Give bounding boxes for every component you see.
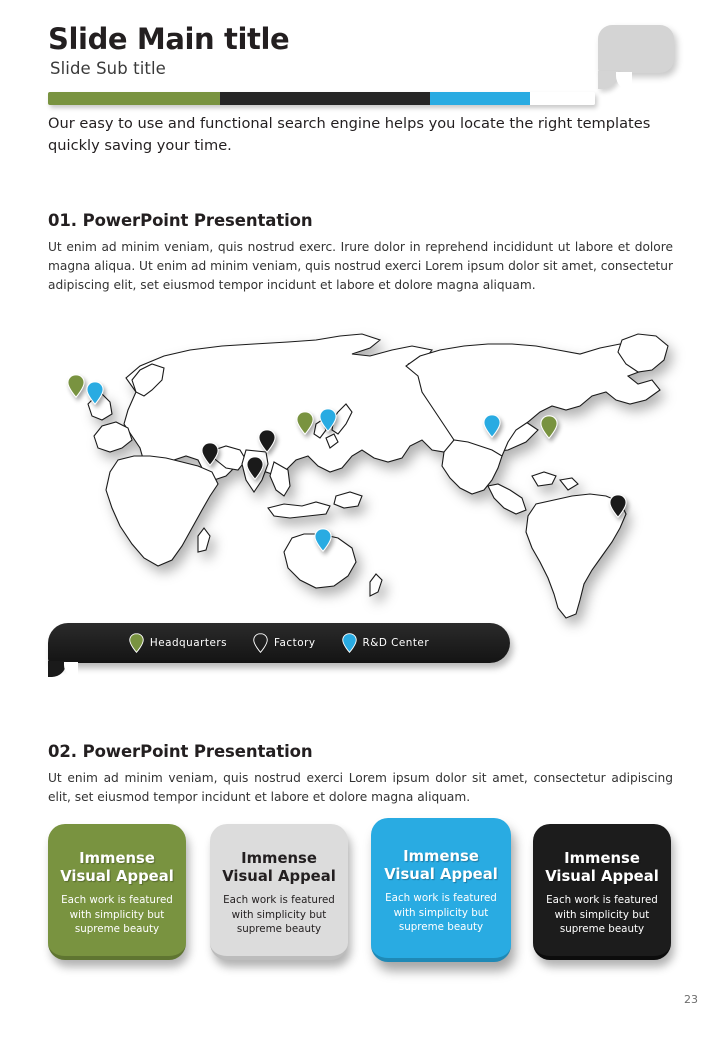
legend-item-headquarters[interactable]: Headquarters <box>129 633 227 653</box>
pin-brazil[interactable] <box>609 494 627 518</box>
feature-card-title-line1: Immense <box>545 850 659 868</box>
page-number: 23 <box>684 993 698 1006</box>
slide-canvas: Slide Main title Slide Sub title Our eas… <box>0 0 720 1040</box>
legend-item-label: Factory <box>274 637 315 649</box>
legend-item-factory[interactable]: Factory <box>253 633 315 653</box>
pin-sea[interactable] <box>246 456 264 480</box>
feature-card-title-line2: Visual Appeal <box>222 868 336 886</box>
map-pin-icon <box>253 633 268 653</box>
feature-card-title-line2: Visual Appeal <box>545 868 659 886</box>
pin-usa-west[interactable] <box>483 414 501 438</box>
colorbar-segment-dark <box>220 92 430 105</box>
speech-bubble-icon <box>598 25 674 73</box>
feature-card-description: Each work is featured with simplicity bu… <box>222 893 336 937</box>
map-legend: HeadquartersFactoryR&D Center <box>48 623 510 663</box>
world-map-svg <box>40 300 680 630</box>
feature-card-title-line2: Visual Appeal <box>60 868 174 886</box>
section-body-01: Ut enim ad minim veniam, quis nostrud ex… <box>48 238 673 295</box>
feature-card-title: ImmenseVisual Appeal <box>222 850 336 886</box>
feature-card[interactable]: ImmenseVisual AppealEach work is feature… <box>371 818 511 962</box>
feature-card[interactable]: ImmenseVisual AppealEach work is feature… <box>48 824 186 960</box>
pin-australia[interactable] <box>314 528 332 552</box>
intro-paragraph: Our easy to use and functional search en… <box>48 113 668 157</box>
feature-card-title: ImmenseVisual Appeal <box>60 850 174 886</box>
feature-card[interactable]: ImmenseVisual AppealEach work is feature… <box>533 824 671 960</box>
feature-card[interactable]: ImmenseVisual AppealEach work is feature… <box>210 824 348 960</box>
pin-uk[interactable] <box>67 374 85 398</box>
world-map <box>40 300 680 630</box>
colorbar-segment-green <box>48 92 220 105</box>
feature-card-description: Each work is featured with simplicity bu… <box>60 893 174 937</box>
map-pin-icon <box>342 633 357 653</box>
colorbar-segment-blue <box>430 92 530 105</box>
feature-card-title: ImmenseVisual Appeal <box>545 850 659 886</box>
legend-item-r-d-center[interactable]: R&D Center <box>342 633 430 653</box>
feature-card-title: ImmenseVisual Appeal <box>383 848 499 884</box>
title-block: Slide Main title Slide Sub title <box>48 24 289 79</box>
feature-card-title-line1: Immense <box>60 850 174 868</box>
page-title: Slide Main title <box>48 24 289 54</box>
pin-china[interactable] <box>258 429 276 453</box>
feature-card-title-line1: Immense <box>383 848 499 866</box>
pin-usa-east[interactable] <box>540 415 558 439</box>
section-heading-01: 01. PowerPoint Presentation <box>48 211 313 230</box>
page-subtitle: Slide Sub title <box>50 60 289 78</box>
feature-card-description: Each work is featured with simplicity bu… <box>383 891 499 935</box>
pin-japan[interactable] <box>319 408 337 432</box>
section-heading-02: 02. PowerPoint Presentation <box>48 742 313 761</box>
legend-item-label: Headquarters <box>150 637 227 649</box>
colorbar-segment-white <box>530 92 595 105</box>
accent-color-bar <box>48 92 595 105</box>
map-pin-icon <box>129 633 144 653</box>
pin-india[interactable] <box>201 442 219 466</box>
feature-card-title-line2: Visual Appeal <box>383 866 499 884</box>
section-body-02: Ut enim ad minim veniam, quis nostrud ex… <box>48 769 673 807</box>
feature-card-row: ImmenseVisual AppealEach work is feature… <box>48 818 672 970</box>
pin-europe[interactable] <box>86 381 104 405</box>
pin-korea[interactable] <box>296 411 314 435</box>
legend-item-label: R&D Center <box>363 637 430 649</box>
feature-card-description: Each work is featured with simplicity bu… <box>545 893 659 937</box>
feature-card-title-line1: Immense <box>222 850 336 868</box>
